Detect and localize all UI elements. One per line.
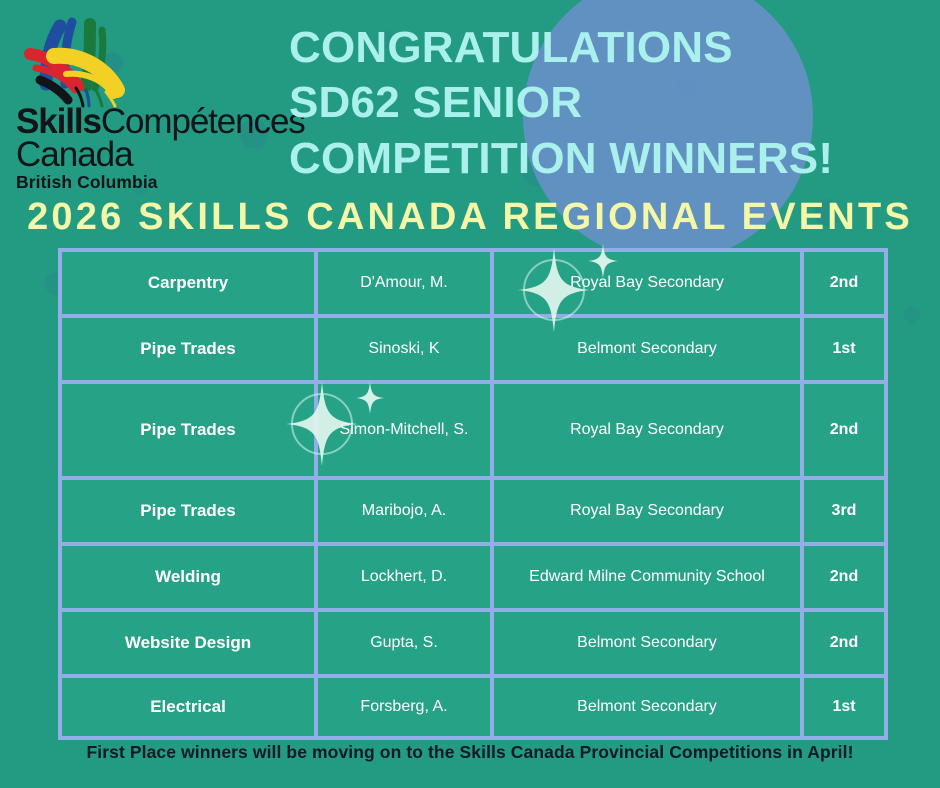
table-row: Pipe Trades Sinoski, K Belmont Secondary… xyxy=(58,314,888,380)
cell-rank: 2nd xyxy=(800,380,888,476)
cell-name: D'Amour, M. xyxy=(314,248,490,314)
cell-school: Royal Bay Secondary xyxy=(490,476,800,542)
logo-wordmark: SkillsCompétences Canada British Columbi… xyxy=(16,106,294,190)
cell-school: Edward Milne Community School xyxy=(490,542,800,608)
cell-name: Forsberg, A. xyxy=(314,674,490,740)
skills-canada-logo-mark xyxy=(20,14,150,112)
table-row: Pipe Trades Simon-Mitchell, S. Royal Bay… xyxy=(58,380,888,476)
cell-name: Gupta, S. xyxy=(314,608,490,674)
cell-name: Lockhert, D. xyxy=(314,542,490,608)
table-row: Website Design Gupta, S. Belmont Seconda… xyxy=(58,608,888,674)
headline-line-2: SD62 SENIOR xyxy=(289,75,929,130)
logo-region-british-columbia: British Columbia xyxy=(16,174,294,190)
cell-rank: 1st xyxy=(800,674,888,740)
cell-name: Maribojo, A. xyxy=(314,476,490,542)
table-row: Pipe Trades Maribojo, A. Royal Bay Secon… xyxy=(58,476,888,542)
logo-name-line-1: SkillsCompétences xyxy=(16,106,294,138)
cell-school: Belmont Secondary xyxy=(490,608,800,674)
winners-table: Carpentry D'Amour, M. Royal Bay Secondar… xyxy=(58,248,888,740)
headline: CONGRATULATIONS SD62 SENIOR COMPETITION … xyxy=(289,20,929,186)
cell-rank: 3rd xyxy=(800,476,888,542)
table-row: Electrical Forsberg, A. Belmont Secondar… xyxy=(58,674,888,740)
logo-name-canada: Canada xyxy=(16,139,294,171)
cell-trade: Electrical xyxy=(58,674,314,740)
winners-table-body: Carpentry D'Amour, M. Royal Bay Secondar… xyxy=(58,248,888,740)
cell-trade: Carpentry xyxy=(58,248,314,314)
headline-line-1: CONGRATULATIONS xyxy=(289,20,929,75)
table-row: Welding Lockhert, D. Edward Milne Commun… xyxy=(58,542,888,608)
cell-trade: Website Design xyxy=(58,608,314,674)
cell-trade: Pipe Trades xyxy=(58,380,314,476)
cell-school: Royal Bay Secondary xyxy=(490,248,800,314)
cell-name: Simon-Mitchell, S. xyxy=(314,380,490,476)
cell-rank: 1st xyxy=(800,314,888,380)
cell-rank: 2nd xyxy=(800,248,888,314)
subtitle-regional-events: 2026 SKILLS CANADA REGIONAL EVENTS xyxy=(0,196,940,239)
headline-line-3: COMPETITION WINNERS! xyxy=(289,131,929,186)
skills-canada-bc-logo: SkillsCompétences Canada British Columbi… xyxy=(14,14,294,192)
cell-trade: Pipe Trades xyxy=(58,314,314,380)
cell-rank: 2nd xyxy=(800,542,888,608)
cell-school: Belmont Secondary xyxy=(490,674,800,740)
cell-trade: Pipe Trades xyxy=(58,476,314,542)
cell-trade: Welding xyxy=(58,542,314,608)
footer-note: First Place winners will be moving on to… xyxy=(0,742,940,763)
cell-school: Belmont Secondary xyxy=(490,314,800,380)
cell-school: Royal Bay Secondary xyxy=(490,380,800,476)
cell-rank: 2nd xyxy=(800,608,888,674)
table-row: Carpentry D'Amour, M. Royal Bay Secondar… xyxy=(58,248,888,314)
cell-name: Sinoski, K xyxy=(314,314,490,380)
poster-canvas: SkillsCompétences Canada British Columbi… xyxy=(0,0,940,788)
